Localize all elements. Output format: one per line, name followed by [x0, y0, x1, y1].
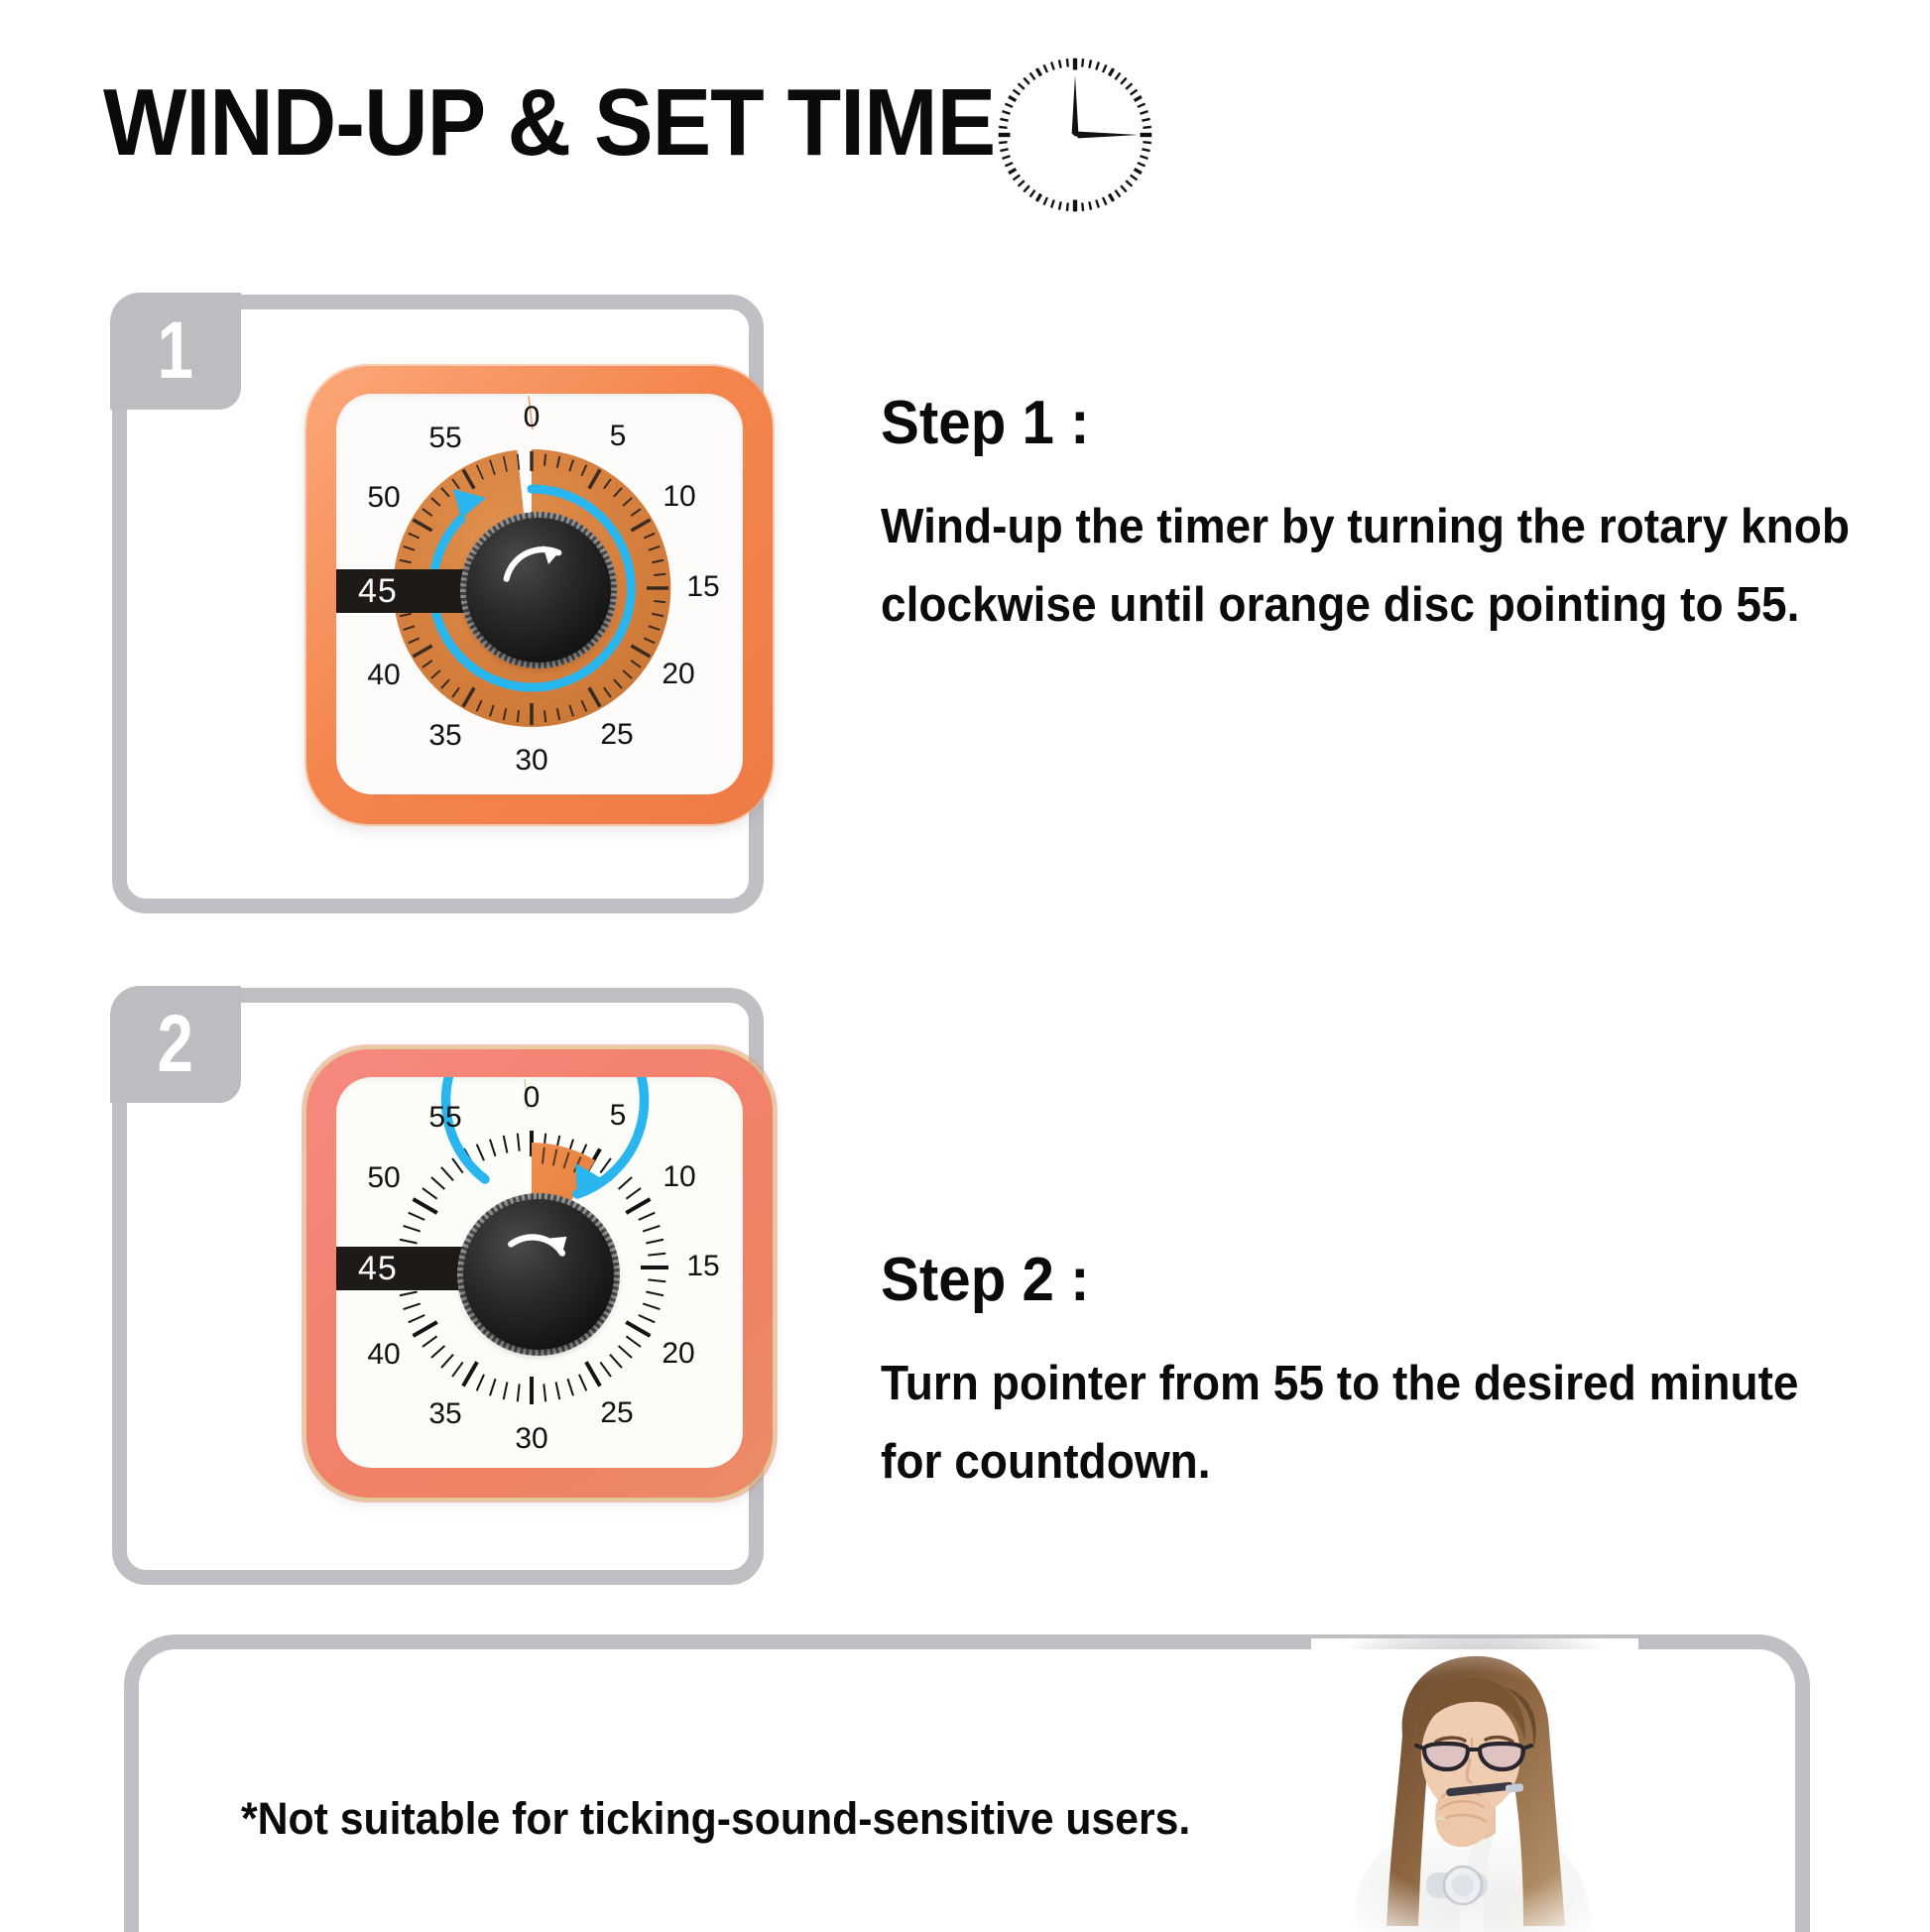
dial-number-25: 25: [600, 1396, 633, 1429]
dial-number-35: 35: [428, 719, 461, 752]
step-2-card: 2: [112, 988, 764, 1585]
step-1-badge-number: 1: [158, 310, 193, 392]
timer-face-1: 0 5 10 15 20 25 30 35 40 50 55: [336, 394, 743, 794]
timer-face-2: 0 5 10 15 20 25 30 35 40 50 55: [336, 1077, 743, 1468]
dial-number-5: 5: [610, 1099, 627, 1132]
dial-number-35: 35: [428, 1397, 461, 1430]
dial-number-40: 40: [367, 1338, 400, 1371]
footer-panel: *Not suitable for ticking-sound-sensitiv…: [124, 1634, 1810, 1932]
footer-disclaimer: *Not suitable for ticking-sound-sensitiv…: [241, 1793, 1190, 1845]
dial-number-25: 25: [600, 718, 633, 751]
clockwise-arrow-icon: [495, 530, 582, 617]
page-title: WIND-UP & SET TIME: [103, 75, 995, 171]
dial-number-55: 55: [428, 1101, 461, 1134]
woman-with-glasses-thinking-photo: [1311, 1638, 1638, 1932]
dial-number-50: 50: [367, 1161, 400, 1194]
page-title-row: WIND-UP & SET TIME: [103, 75, 1062, 171]
step-1-badge: 1: [110, 293, 241, 410]
step-2-badge-number: 2: [158, 1004, 193, 1085]
timer-device-2: 0 5 10 15 20 25 30 35 40 50 55: [306, 1049, 773, 1498]
timer-device-1: 0 5 10 15 20 25 30 35 40 50 55: [306, 366, 773, 824]
dial-number-0: 0: [524, 401, 541, 433]
clock-icon: [992, 52, 1158, 218]
step-1-body: Wind-up the timer by turning the rotary …: [881, 488, 1868, 646]
dial-number-5: 5: [610, 420, 627, 452]
dial-number-50: 50: [367, 481, 400, 514]
dial-number-40: 40: [367, 659, 400, 691]
dial-number-10: 10: [663, 480, 695, 513]
step-1-card: 1: [112, 295, 764, 913]
dial-number-15: 15: [686, 570, 719, 603]
dial-number-20: 20: [662, 1337, 694, 1370]
dial-number-15: 15: [686, 1250, 719, 1282]
rotary-knob-1[interactable]: [466, 518, 611, 663]
dial-number-20: 20: [662, 658, 694, 690]
dial-number-30: 30: [515, 744, 547, 777]
clockwise-arrow-icon: [493, 1211, 583, 1301]
dial-number-10: 10: [663, 1160, 695, 1193]
dial-number-30: 30: [515, 1422, 547, 1455]
step-2-heading: Step 2 :: [881, 1250, 1868, 1311]
dial-number-45: 45: [358, 572, 398, 611]
dial-number-55: 55: [428, 422, 461, 454]
infographic-page: WIND-UP & SET TIME: [0, 0, 1930, 1930]
step-2-text-block: Step 2 : Turn pointer from 55 to the des…: [881, 1250, 1930, 1503]
step-1-text-block: Step 1 : Wind-up the timer by turning th…: [881, 393, 1930, 646]
dial-number-45: 45: [358, 1250, 398, 1288]
dial-number-0: 0: [524, 1081, 541, 1114]
step-2-body: Turn pointer from 55 to the desired minu…: [881, 1345, 1868, 1503]
step-2-badge: 2: [110, 986, 241, 1103]
rotary-knob-2[interactable]: [463, 1199, 614, 1350]
step-1-heading: Step 1 :: [881, 393, 1868, 454]
